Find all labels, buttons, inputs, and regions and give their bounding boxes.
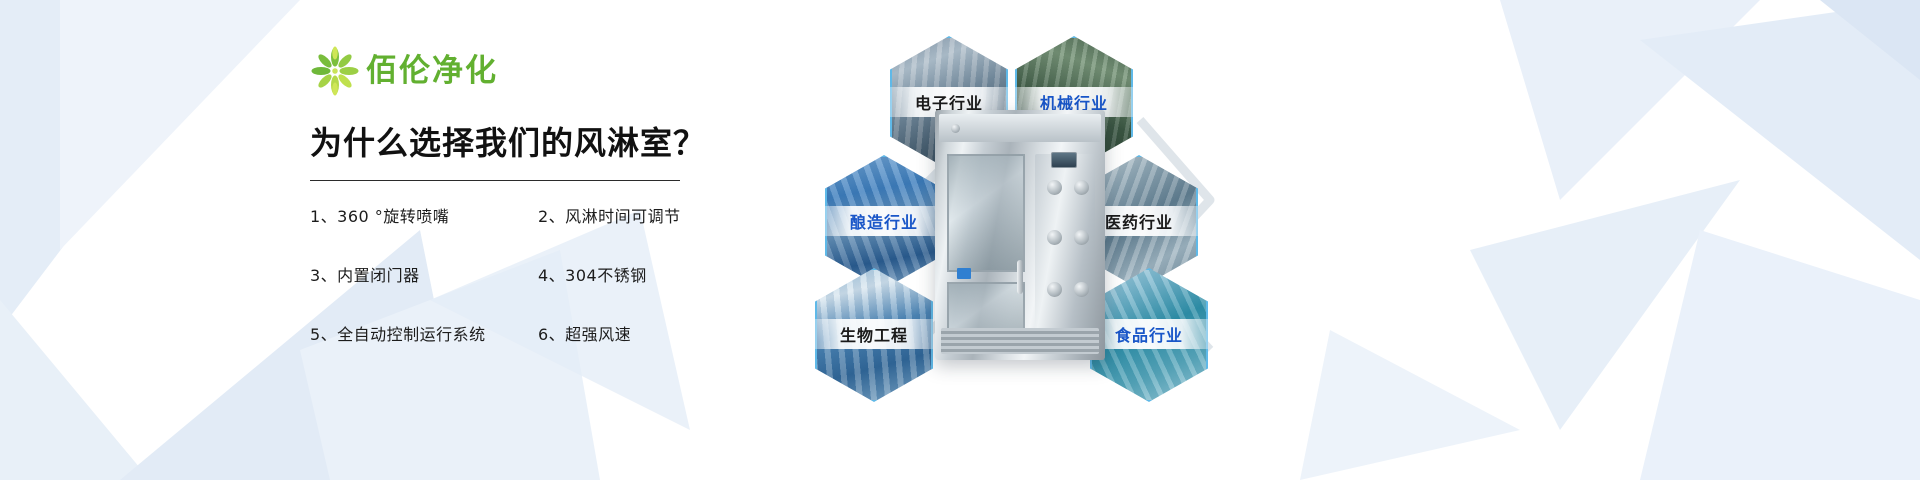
device-nozzle xyxy=(1047,230,1062,245)
device-nozzle xyxy=(1047,180,1062,195)
air-shower-room-image xyxy=(935,110,1105,360)
device-control-screen xyxy=(1051,152,1077,168)
hex-label-band: 生物工程 xyxy=(815,319,933,349)
industry-label: 酿造行业 xyxy=(850,209,918,233)
device-blue-badge xyxy=(957,268,971,279)
feature-item: 5、全自动控制运行系统 xyxy=(310,321,538,345)
flower-leaf-icon xyxy=(310,46,360,96)
industry-label: 医药行业 xyxy=(1105,209,1173,233)
hex-label-band: 食品行业 xyxy=(1090,319,1208,349)
page-title: 为什么选择我们的风淋室？ xyxy=(310,118,740,164)
feature-item: 1、360 °旋转喷嘴 xyxy=(310,203,538,227)
device-nozzle xyxy=(1047,282,1062,297)
feature-list: 1、360 °旋转喷嘴 2、风淋时间可调节 3、内置闭门器 4、304不锈钢 5… xyxy=(310,203,740,345)
feature-item: 4、304不锈钢 xyxy=(538,262,740,286)
device-door-handle xyxy=(1017,260,1023,294)
feature-item: 3、内置闭门器 xyxy=(310,262,538,286)
industry-diagram: 电子行业 机械行业 酿造行业 医药行业 生物工程 xyxy=(790,0,1350,480)
title-divider xyxy=(310,180,680,181)
device-nozzle xyxy=(1074,282,1089,297)
brand-lockup: 佰伦净化 xyxy=(310,42,740,100)
brand-name: 佰伦净化 xyxy=(366,56,498,87)
device-vent-grill xyxy=(941,328,1099,354)
intro-panel: 佰伦净化 为什么选择我们的风淋室？ 1、360 °旋转喷嘴 2、风淋时间可调节 … xyxy=(310,42,740,372)
device-nozzle xyxy=(1074,230,1089,245)
device-nozzle xyxy=(1074,180,1089,195)
industry-label: 生物工程 xyxy=(840,322,908,346)
industry-label: 食品行业 xyxy=(1115,322,1183,346)
hex-label-band: 酿造行业 xyxy=(825,206,943,236)
feature-item: 2、风淋时间可调节 xyxy=(538,203,740,227)
feature-item: 6、超强风速 xyxy=(538,321,740,345)
device-top-panel xyxy=(939,114,1101,142)
device-indicator-light xyxy=(951,124,960,133)
device-glass-window-upper xyxy=(947,154,1025,272)
